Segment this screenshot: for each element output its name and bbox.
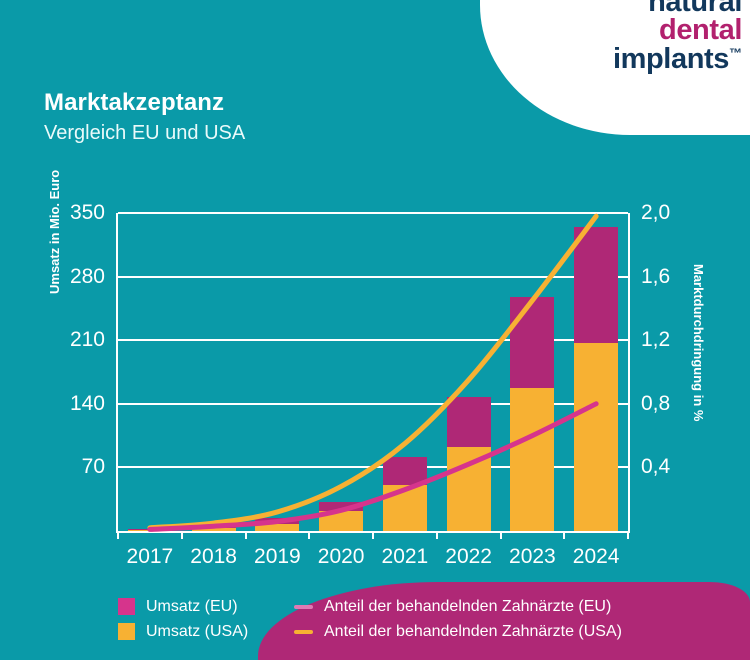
y-axis-left-label: Umsatz in Mio. Euro	[47, 114, 62, 294]
x-tick-mark	[436, 531, 438, 539]
legend-bars: Umsatz (EU) Umsatz (USA)	[118, 594, 288, 644]
line-series-group	[118, 213, 628, 531]
infographic-canvas: natural dental implants™ Marktakzeptanz …	[0, 0, 750, 660]
x-tick-label: 2023	[509, 545, 556, 569]
y-tick-label-left: 350	[70, 202, 105, 223]
chart: Umsatz in Mio. Euro Marktdurchdringung i…	[0, 0, 750, 660]
x-tick-label: 2017	[127, 545, 174, 569]
x-tick-label: 2019	[254, 545, 301, 569]
legend-label-umsatz-usa: Umsatz (USA)	[146, 623, 248, 641]
y-axis-right-line	[628, 213, 630, 531]
y-tick-label-left: 210	[70, 329, 105, 350]
x-tick-label: 2024	[573, 545, 620, 569]
legend-swatch-icon-eu	[118, 598, 135, 615]
plot-area: 70140210280350 0,40,81,21,62,0 201720182…	[118, 213, 628, 531]
x-tick-mark	[181, 531, 183, 539]
y-tick-label-left: 70	[82, 456, 105, 477]
legend-item-anteil-usa[interactable]: Anteil der behandelnden Zahnärzte (USA)	[294, 619, 694, 644]
legend-label-anteil-eu: Anteil der behandelnden Zahnärzte (EU)	[324, 598, 611, 616]
legend-item-anteil-eu[interactable]: Anteil der behandelnden Zahnärzte (EU)	[294, 594, 694, 619]
legend-item-umsatz-eu[interactable]: Umsatz (EU)	[118, 594, 288, 619]
x-tick-mark	[117, 531, 119, 539]
x-tick-mark	[372, 531, 374, 539]
line-series-usa	[150, 216, 596, 528]
legend-line-icon-usa	[294, 630, 313, 634]
x-tick-label: 2022	[445, 545, 492, 569]
x-tick-mark	[563, 531, 565, 539]
y-axis-right-label: Marktdurchdringung in %	[691, 264, 706, 494]
x-tick-label: 2021	[382, 545, 429, 569]
y-tick-label-left: 140	[70, 393, 105, 414]
y-tick-label-right: 1,2	[641, 329, 670, 350]
y-tick-label-right: 1,6	[641, 266, 670, 287]
legend-line-icon-eu	[294, 605, 313, 609]
legend-lines: Anteil der behandelnden Zahnärzte (EU) A…	[294, 594, 694, 644]
x-tick-mark	[245, 531, 247, 539]
x-tick-label: 2020	[318, 545, 365, 569]
y-tick-label-right: 0,8	[641, 393, 670, 414]
y-tick-label-right: 0,4	[641, 456, 670, 477]
legend-label-umsatz-eu: Umsatz (EU)	[146, 598, 238, 616]
x-tick-mark	[308, 531, 310, 539]
y-tick-label-left: 280	[70, 266, 105, 287]
x-tick-mark	[627, 531, 629, 539]
y-tick-label-right: 2,0	[641, 202, 670, 223]
legend-swatch-icon-usa	[118, 623, 135, 640]
x-tick-mark	[500, 531, 502, 539]
legend-item-umsatz-usa[interactable]: Umsatz (USA)	[118, 619, 288, 644]
x-tick-label: 2018	[190, 545, 237, 569]
legend-label-anteil-usa: Anteil der behandelnden Zahnärzte (USA)	[324, 623, 622, 641]
